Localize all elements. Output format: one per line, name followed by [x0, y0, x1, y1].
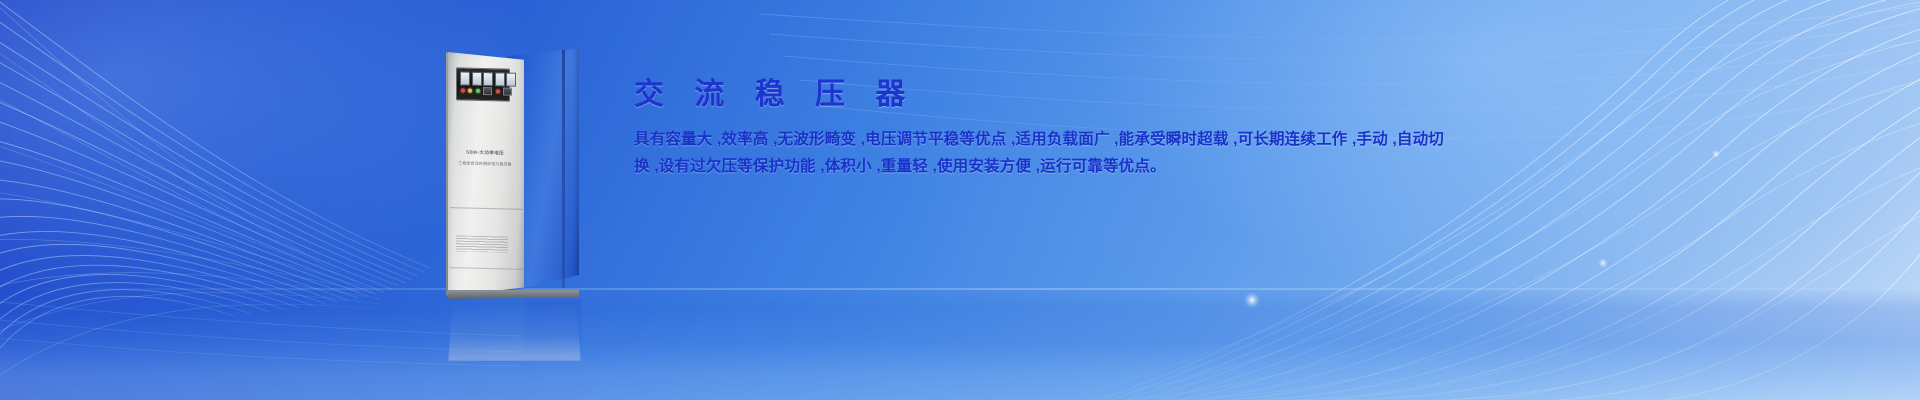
floor-horizon-line: [0, 288, 1920, 290]
indicator-light-red: [461, 88, 465, 92]
cabinet-vent-grille: [456, 235, 508, 252]
control-switch: [483, 87, 492, 95]
cabinet-side-seam: [562, 50, 565, 288]
product-image-voltage-stabilizer: SBW-大功率电压 三相全自动补偿式电力稳压器: [430, 40, 640, 370]
banner-description: 具有容量大 ,效率高 ,无波形畸变 ,电压调节平稳等优点 ,适用负载面广 ,能承…: [634, 127, 1450, 180]
meter-panel: [456, 67, 510, 101]
cabinet-reflection: [448, 299, 581, 361]
banner-title: 交 流 稳 压 器: [634, 78, 1494, 111]
cabinet-body: SBW-大功率电压 三相全自动补偿式电力稳压器: [430, 40, 615, 292]
promo-banner: SBW-大功率电压 三相全自动补偿式电力稳压器 交 流 稳 压 器 具有容量大 …: [0, 0, 1920, 400]
control-switch-2: [503, 87, 512, 95]
gauge-4: [495, 72, 505, 86]
floor-reflection-surface: [0, 288, 1920, 400]
indicator-light-green: [476, 89, 480, 93]
wireframe-curve-pattern: [0, 0, 1920, 400]
gauge-2: [472, 72, 482, 86]
gauge-5: [506, 73, 516, 87]
gauge-3: [483, 72, 493, 86]
glint-upper-right: [1712, 150, 1720, 158]
indicator-light-red-2: [496, 89, 500, 93]
gauge-row: [460, 71, 516, 86]
cabinet-base-plinth: [448, 290, 579, 299]
banner-copy: 交 流 稳 压 器 具有容量大 ,效率高 ,无波形畸变 ,电压调节平稳等优点 ,…: [634, 78, 1494, 180]
glint-lower-center: [1244, 292, 1260, 308]
glint-right: [1598, 258, 1608, 268]
gauge-1: [460, 71, 470, 85]
indicator-light-yellow: [468, 89, 472, 93]
indicator-light-row: [461, 86, 512, 95]
